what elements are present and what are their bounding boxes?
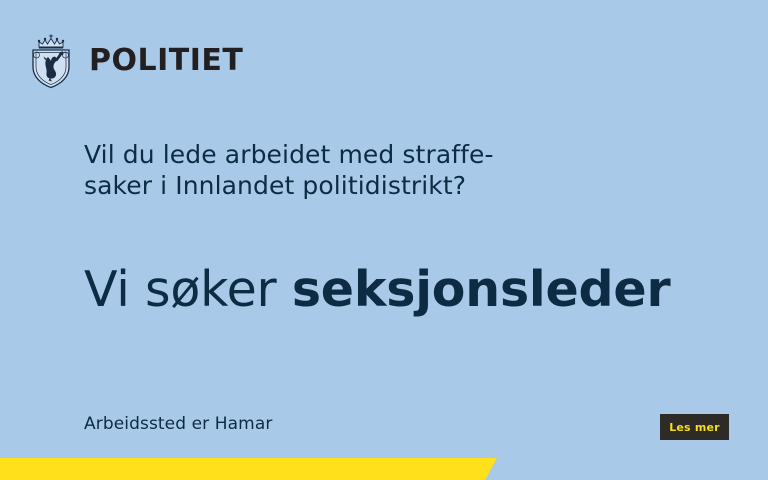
les-mer-button[interactable]: Les mer [660, 414, 729, 440]
les-mer-button-label: Les mer [669, 422, 720, 433]
norwegian-coat-of-arms-icon [26, 33, 76, 89]
headline: Vi søker seksjonsleder [84, 265, 670, 314]
politiet-logo: POLITIET [26, 33, 243, 89]
headline-light-part: Vi søker [84, 261, 292, 318]
kicker-text: Vil du lede arbeidet med straffe- saker … [84, 139, 644, 201]
kicker-line-2: saker i Innlandet politidistrikt? [84, 170, 644, 201]
kicker-line-1: Vil du lede arbeidet med straffe- [84, 139, 644, 170]
politiet-wordmark: POLITIET [89, 46, 243, 76]
recruitment-banner: POLITIET Vil du lede arbeidet med straff… [0, 0, 768, 480]
headline-strong-part: seksjonsleder [292, 261, 671, 318]
yellow-accent-stripe [0, 458, 497, 480]
location-text: Arbeidssted er Hamar [84, 414, 272, 434]
